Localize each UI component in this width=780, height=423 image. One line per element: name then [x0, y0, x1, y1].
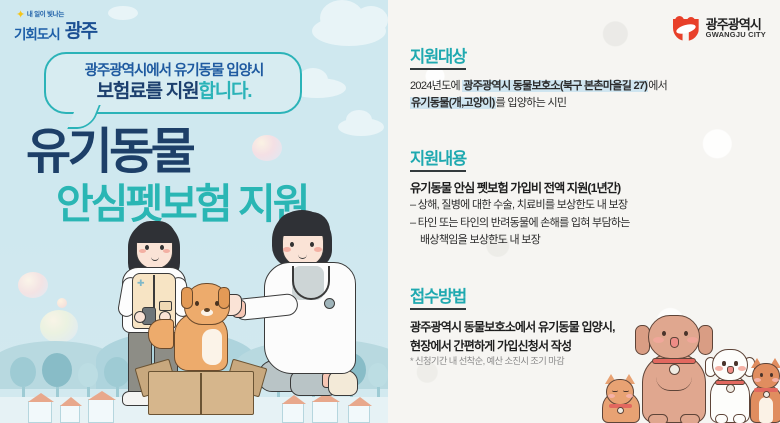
content-bullet-1: – 상해, 질병에 대한 수술, 치료비를 보상한도 내 보장	[410, 197, 770, 215]
target-text-highlight: 유기동물(개,고양이)	[410, 97, 496, 109]
bubble-line-1: 광주광역시에서 유기동물 입양시	[60, 63, 288, 80]
bubble-line-2: 보험료를 지원합니다.	[60, 81, 288, 103]
section-title-support-target: 지원대상	[410, 48, 466, 70]
cardboard-box	[148, 357, 254, 415]
brand-name-row: 기회도시 광주	[14, 22, 144, 41]
brand-tagline: 내 일이 빛나는	[27, 12, 64, 19]
section-title-support-content: 지원내용	[410, 150, 466, 172]
target-text-highlight: 광주광역시 동물보호소(북구 본촌마을길 27)	[462, 80, 648, 92]
target-line-2: 유기동물(개,고양이)를 입양하는 시민	[410, 95, 770, 112]
left-illustration: ✚	[0, 213, 388, 423]
big-brown-dog	[636, 315, 712, 423]
bubble-line-2-dark: 보험료를 지원	[97, 81, 199, 102]
brand-line2: 광주	[65, 22, 97, 41]
soap-bubble-icon	[252, 135, 282, 161]
city-name-kr: 광주광역시	[706, 18, 766, 32]
orange-cat	[748, 363, 780, 423]
brand-line1: 기회도시	[14, 28, 60, 42]
gwangju-emblem-icon	[673, 16, 699, 41]
section-support-content: 지원내용 유기동물 안심 펫보험 가입비 전액 지원(1년간) – 상해, 질병…	[410, 150, 770, 250]
section-title-application-method: 접수방법	[410, 288, 466, 310]
poster-root: ✦ 내 일이 빛나는 기회도시 광주 광주광역시에서 유기동물 입양시 보험료를…	[0, 0, 780, 423]
white-poodle	[706, 349, 754, 423]
section-body-support-target: 2024년도에 광주광역시 동물보호소(북구 본촌마을길 27)에서 유기동물(…	[410, 78, 770, 112]
cloud-icon	[338, 118, 384, 136]
cloud-icon	[312, 16, 386, 46]
pets-illustration	[602, 311, 780, 423]
gwangju-brand-logo: ✦ 내 일이 빛나는 기회도시 광주	[14, 10, 144, 41]
brand-tagline-row: ✦ 내 일이 빛나는	[14, 10, 144, 21]
star-icon: ✦	[16, 10, 25, 21]
content-bullet-2-cont: 배상책임을 보상한도 내 보장	[410, 232, 770, 250]
right-panel: 광주광역시 GWANGJU CITY 지원대상 2024년도에 광주광역시 동물…	[388, 0, 780, 423]
stethoscope-head-icon	[324, 298, 335, 309]
city-logo-text: 광주광역시 GWANGJU CITY	[706, 18, 766, 40]
speech-bubble: 광주광역시에서 유기동물 입양시 보험료를 지원합니다.	[44, 52, 302, 114]
city-name-en: GWANGJU CITY	[706, 31, 766, 39]
left-panel: ✦ 내 일이 빛나는 기회도시 광주 광주광역시에서 유기동물 입양시 보험료를…	[0, 0, 388, 423]
target-text-plain: 를 입양하는 시민	[496, 97, 567, 109]
bubble-line-2-teal: 합니다.	[198, 81, 251, 102]
section-support-target: 지원대상 2024년도에 광주광역시 동물보호소(북구 본촌마을길 27)에서 …	[410, 48, 770, 112]
target-line-1: 2024년도에 광주광역시 동물보호소(북구 본촌마을길 27)에서	[410, 78, 770, 95]
target-text-plain: 에서	[648, 80, 667, 92]
content-lead-line: 유기동물 안심 펫보험 가입비 전액 지원(1년간)	[410, 180, 770, 197]
target-text-plain: 2024년도에	[410, 80, 462, 92]
gwangju-city-logo: 광주광역시 GWANGJU CITY	[673, 16, 766, 41]
section-body-support-content: 유기동물 안심 펫보험 가입비 전액 지원(1년간) – 상해, 질병에 대한 …	[410, 180, 770, 250]
content-bullet-2: – 타인 또는 타인의 반려동물에 손해를 입혀 부담하는	[410, 215, 770, 233]
